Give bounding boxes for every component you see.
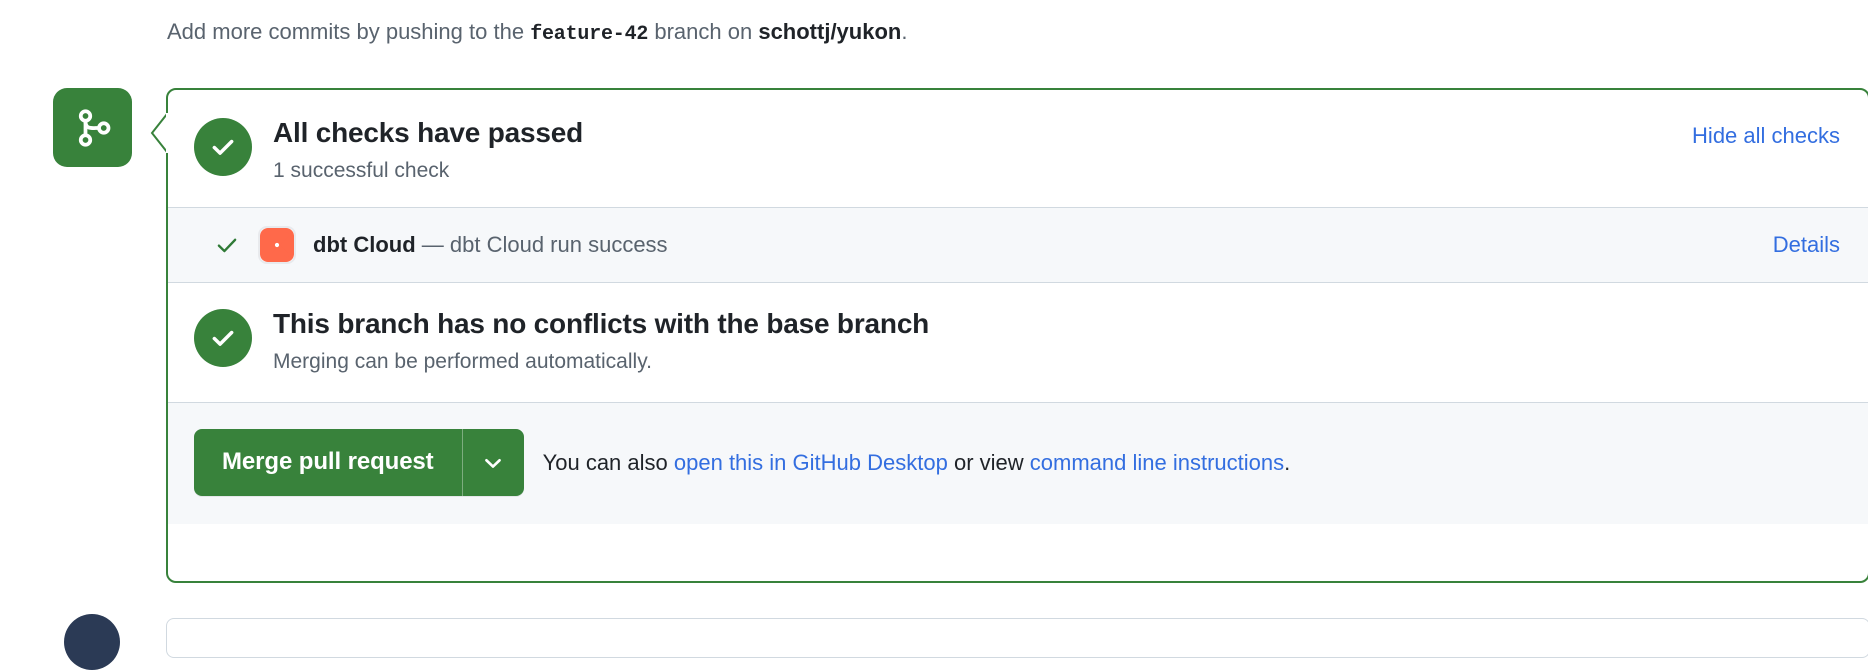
check-circle-icon bbox=[194, 309, 252, 367]
check-details-link[interactable]: Details bbox=[1773, 232, 1840, 258]
conflicts-title: This branch has no conflicts with the ba… bbox=[273, 307, 929, 341]
next-comment-avatar bbox=[64, 614, 120, 670]
footer-note-lead: You can also bbox=[543, 450, 668, 475]
check-row-text: dbt Cloud — dbt Cloud run success bbox=[313, 230, 668, 260]
merge-status-box: All checks have passed 1 successful chec… bbox=[166, 88, 1868, 583]
chevron-down-icon bbox=[482, 452, 504, 474]
checks-header-text: All checks have passed 1 successful chec… bbox=[273, 116, 1842, 185]
dbt-logo-icon bbox=[258, 226, 296, 264]
push-notice-period: . bbox=[901, 19, 907, 44]
push-commits-notice: Add more commits by pushing to the featu… bbox=[167, 17, 907, 50]
push-notice-lead: Add more commits by pushing to the bbox=[167, 19, 524, 44]
branch-name-code: feature-42 bbox=[530, 23, 648, 46]
check-row[interactable]: dbt Cloud — dbt Cloud run success Detail… bbox=[168, 207, 1868, 283]
footer-note-end: . bbox=[1284, 450, 1290, 475]
footer-note-middle: or view bbox=[954, 450, 1024, 475]
merge-box-pointer bbox=[150, 113, 168, 153]
next-timeline-box bbox=[166, 618, 1868, 658]
checks-header: All checks have passed 1 successful chec… bbox=[168, 90, 1868, 207]
check-description: dbt Cloud run success bbox=[450, 232, 668, 257]
check-context-name: dbt Cloud bbox=[313, 232, 416, 257]
check-separator: — bbox=[422, 232, 444, 257]
hide-all-checks-link[interactable]: Hide all checks bbox=[1692, 122, 1840, 150]
checks-title: All checks have passed bbox=[273, 116, 1842, 150]
merge-pull-request-button[interactable]: Merge pull request bbox=[194, 429, 462, 496]
merge-footer-note: You can also open this in GitHub Desktop… bbox=[543, 448, 1291, 478]
merge-footer: Merge pull request You can also open thi… bbox=[168, 403, 1868, 524]
github-desktop-link[interactable]: open this in GitHub Desktop bbox=[674, 450, 948, 475]
command-line-instructions-link[interactable]: command line instructions bbox=[1030, 450, 1284, 475]
check-icon bbox=[214, 232, 240, 258]
merge-button-group[interactable]: Merge pull request bbox=[194, 429, 524, 496]
conflicts-subtitle: Merging can be performed automatically. bbox=[273, 348, 929, 376]
merge-options-dropdown-button[interactable] bbox=[462, 429, 524, 496]
conflicts-section: This branch has no conflicts with the ba… bbox=[168, 283, 1868, 403]
git-merge-icon bbox=[73, 108, 113, 148]
merge-state-badge bbox=[53, 88, 132, 167]
conflicts-text: This branch has no conflicts with the ba… bbox=[273, 307, 929, 376]
check-circle-icon bbox=[194, 118, 252, 176]
checks-subtitle: 1 successful check bbox=[273, 157, 1842, 185]
repository-name: schottj/yukon bbox=[758, 19, 901, 44]
push-notice-middle: branch on bbox=[654, 19, 752, 44]
